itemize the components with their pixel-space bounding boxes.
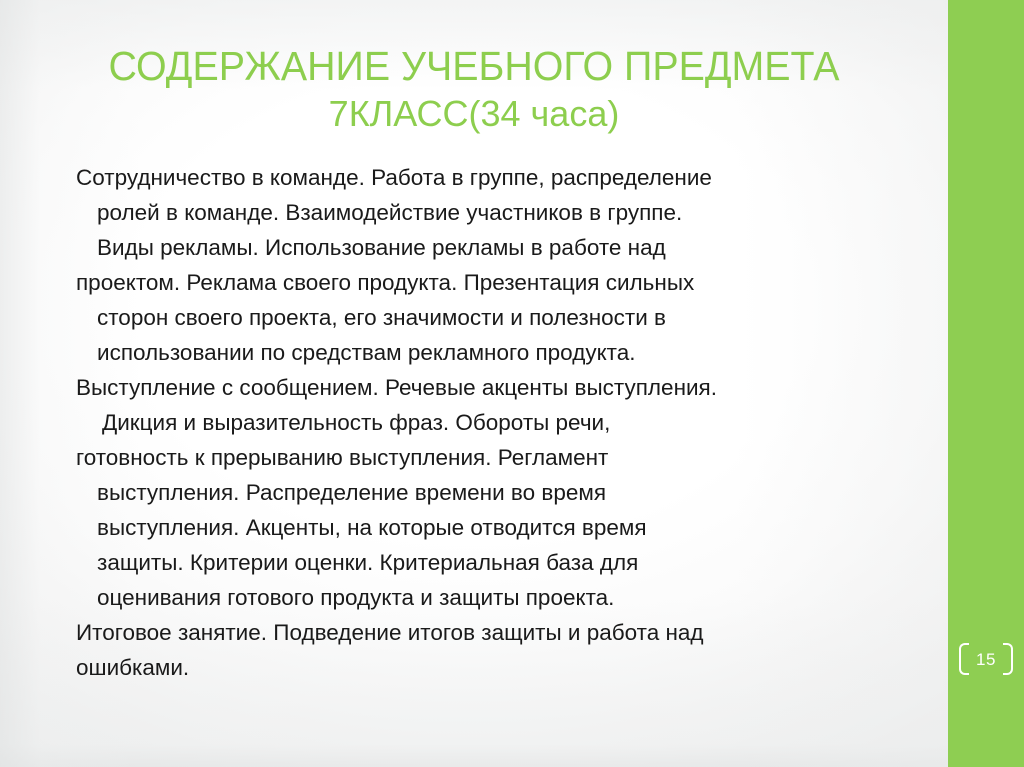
page-number-text: 15: [969, 651, 1003, 668]
right-bracket-icon: [1003, 643, 1013, 675]
body-line: готовность к прерыванию выступления. Рег…: [76, 440, 902, 475]
title-line-1: СОДЕРЖАНИЕ УЧЕБНОГО ПРЕДМЕТА: [73, 42, 876, 90]
presentation-slide: 15 СОДЕРЖАНИЕ УЧЕБНОГО ПРЕДМЕТА 7КЛАСС(3…: [0, 0, 1024, 767]
body-line: использовании по средствам рекламного пр…: [76, 335, 902, 370]
body-line: Сотрудничество в команде. Работа в групп…: [76, 160, 902, 195]
body-paragraph-1: Сотрудничество в команде. Работа в групп…: [76, 160, 902, 265]
body-line: проектом. Реклама своего продукта. Презе…: [76, 265, 902, 300]
body-line: выступления. Распределение времени во вр…: [76, 475, 902, 510]
page-number-badge: 15: [948, 636, 1024, 682]
body-line: выступления. Акценты, на которые отводит…: [76, 510, 902, 545]
body-line: Выступление с сообщением. Речевые акцент…: [76, 370, 902, 405]
body-line: оценивания готового продукта и защиты пр…: [76, 580, 902, 615]
body-line: защиты. Критерии оценки. Критериальная б…: [76, 545, 902, 580]
body-paragraph-2: проектом. Реклама своего продукта. Презе…: [76, 265, 902, 370]
body-paragraph-5: Итоговое занятие. Подведение итогов защи…: [76, 615, 902, 685]
body-line: Дикция и выразительность фраз. Обороты р…: [76, 405, 902, 440]
slide-body: Сотрудничество в команде. Работа в групп…: [76, 160, 902, 685]
title-line-2: 7КЛАСС(34 часа): [56, 90, 892, 138]
body-line: Виды рекламы. Использование рекламы в ра…: [76, 230, 902, 265]
body-paragraph-4: готовность к прерыванию выступления. Рег…: [76, 440, 902, 615]
body-line: Итоговое занятие. Подведение итогов защи…: [76, 615, 902, 650]
body-paragraph-3: Выступление с сообщением. Речевые акцент…: [76, 370, 902, 440]
left-bracket-icon: [959, 643, 969, 675]
slide-title: СОДЕРЖАНИЕ УЧЕБНОГО ПРЕДМЕТА 7КЛАСС(34 ч…: [56, 42, 892, 138]
body-line: сторон своего проекта, его значимости и …: [76, 300, 902, 335]
body-line: ошибками.: [76, 650, 902, 685]
body-line: ролей в команде. Взаимодействие участник…: [76, 195, 902, 230]
